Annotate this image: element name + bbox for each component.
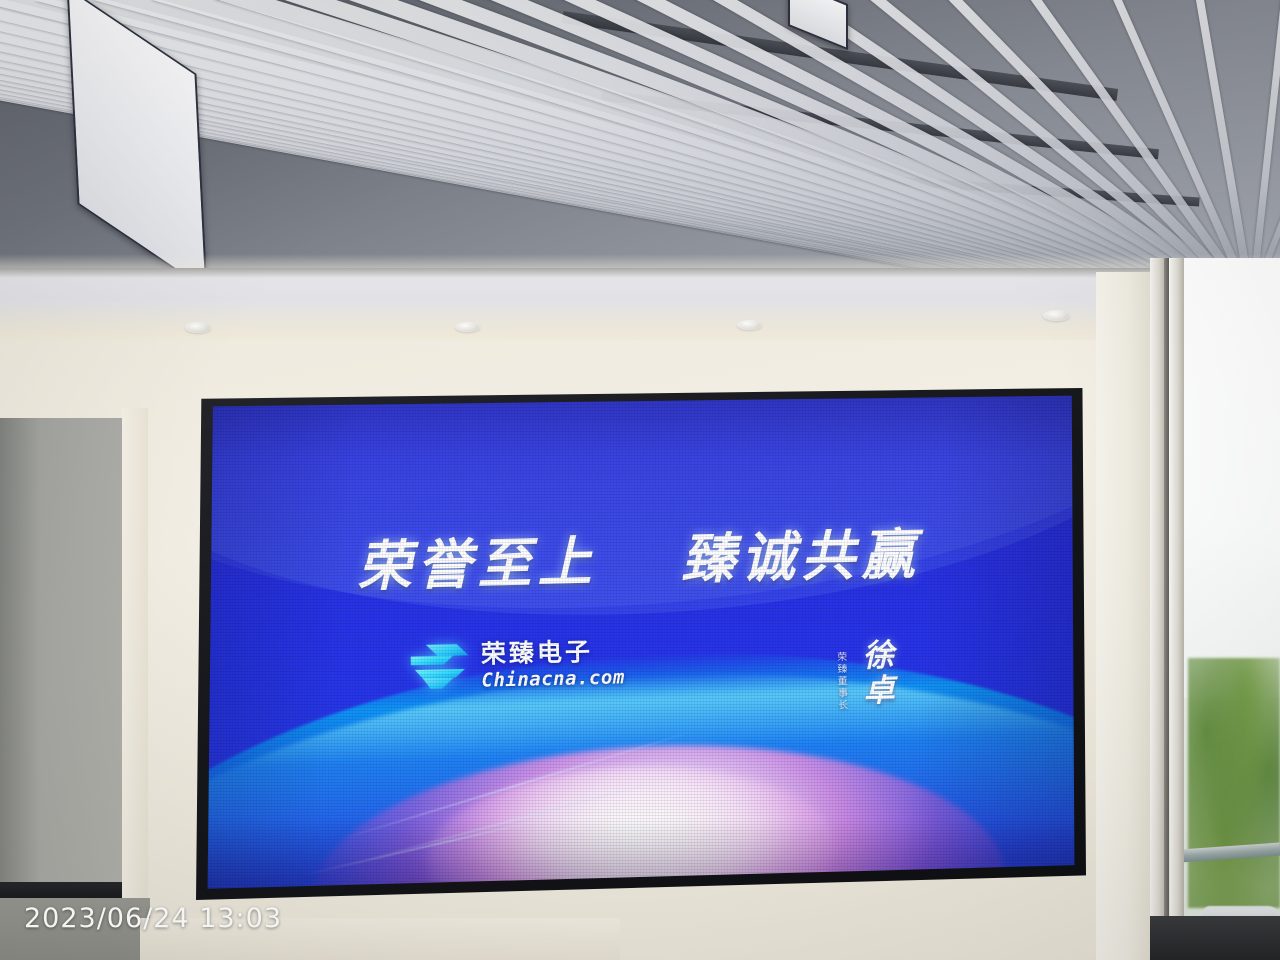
window-sky	[1180, 258, 1280, 698]
window-frame-reveal	[1164, 258, 1169, 960]
led-video-wall[interactable]: 荣誉至上 臻诚共赢	[196, 388, 1086, 900]
window-sill	[1150, 916, 1280, 960]
soffit-shadow	[0, 268, 1280, 278]
alcove-shadow	[0, 418, 40, 918]
door-jamb	[122, 408, 148, 928]
exterior-window	[1150, 258, 1280, 960]
photo-scene: 荣誉至上 臻诚共赢	[0, 0, 1280, 960]
display-screen: 荣誉至上 臻诚共赢	[196, 388, 1086, 900]
window-trees	[1188, 658, 1280, 908]
timestamp-watermark: 2023/06/24 13:03	[24, 903, 282, 934]
screen-vignette	[196, 388, 1086, 900]
window-frame-inner	[1170, 258, 1184, 960]
ceiling-soffit	[0, 268, 1280, 348]
recessed-downlight	[185, 322, 211, 333]
wall-pillar	[1096, 272, 1158, 960]
recessed-downlight	[455, 322, 480, 332]
ceiling	[0, 0, 1280, 300]
recessed-downlight	[737, 320, 762, 330]
recessed-downlight	[1043, 310, 1070, 321]
